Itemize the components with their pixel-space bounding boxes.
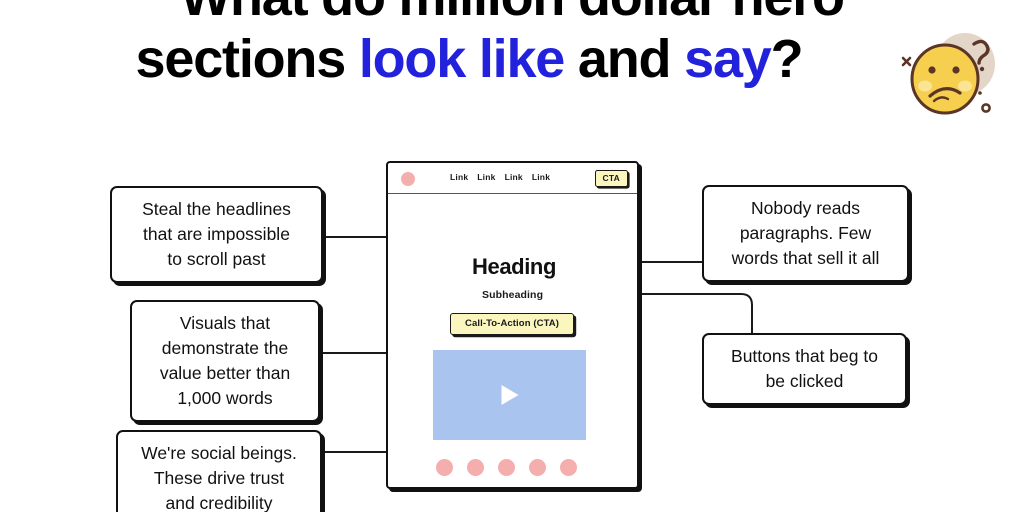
headline-segment-plain-1: sections bbox=[136, 29, 359, 89]
headline-segment-plain-3: ? bbox=[771, 29, 803, 89]
callout-line: value better than bbox=[142, 361, 308, 386]
callout-line: 1,000 words bbox=[142, 386, 308, 411]
hero-video-placeholder[interactable] bbox=[433, 350, 586, 440]
mockup-heading: Heading bbox=[472, 254, 556, 280]
play-icon[interactable] bbox=[501, 385, 518, 405]
headline-segment-plain-2: and bbox=[564, 29, 684, 89]
mockup-hero-body: Heading Subheading Call-To-Action (CTA) bbox=[388, 194, 637, 487]
callout-line: Visuals that bbox=[142, 311, 308, 336]
headline-segment-accent-2: say bbox=[684, 29, 771, 89]
callout-line: Buttons that beg to bbox=[714, 344, 895, 369]
brand-logo-dot-icon bbox=[401, 172, 415, 186]
callout-line: These drive trust bbox=[128, 466, 310, 491]
mockup-nav-links: Link Link Link Link bbox=[450, 172, 550, 182]
callout-line: to scroll past bbox=[122, 247, 311, 272]
headline-line-1: What do million dollar hero bbox=[0, 0, 1024, 28]
mockup-cta-button[interactable]: Call-To-Action (CTA) bbox=[450, 313, 574, 335]
nav-link-1[interactable]: Link bbox=[450, 172, 468, 182]
canvas: What do million dollar hero sections loo… bbox=[0, 0, 1024, 512]
callout-paragraph: Nobody reads paragraphs. Few words that … bbox=[702, 185, 909, 282]
callout-line: be clicked bbox=[714, 369, 895, 394]
callout-buttons: Buttons that beg to be clicked bbox=[702, 333, 907, 405]
nav-link-3[interactable]: Link bbox=[505, 172, 523, 182]
headline-segment-accent-1: look like bbox=[359, 29, 564, 89]
callout-line: and credibility bbox=[128, 491, 310, 512]
social-proof-avatars bbox=[436, 459, 577, 476]
headline-line-2: sections look like and say? bbox=[0, 28, 1024, 90]
callout-line: We're social beings. bbox=[128, 441, 310, 466]
callout-line: paragraphs. Few bbox=[714, 221, 897, 246]
nav-cta-button[interactable]: CTA bbox=[595, 170, 628, 187]
avatar bbox=[560, 459, 577, 476]
avatar bbox=[467, 459, 484, 476]
callout-line: Nobody reads bbox=[714, 196, 897, 221]
avatar bbox=[529, 459, 546, 476]
page-title: What do million dollar hero sections loo… bbox=[0, 0, 1024, 90]
hero-section-mockup: Link Link Link Link CTA Heading Subheadi… bbox=[386, 161, 639, 489]
callout-line: words that sell it all bbox=[714, 246, 897, 271]
callout-social-proof: We're social beings. These drive trust a… bbox=[116, 430, 322, 512]
mockup-navbar: Link Link Link Link CTA bbox=[388, 163, 637, 194]
avatar bbox=[436, 459, 453, 476]
callout-line: Steal the headlines bbox=[122, 197, 311, 222]
nav-link-2[interactable]: Link bbox=[477, 172, 495, 182]
confused-face-emoji bbox=[896, 24, 1008, 128]
callout-line: demonstrate the bbox=[142, 336, 308, 361]
nav-link-4[interactable]: Link bbox=[532, 172, 550, 182]
callout-visuals: Visuals that demonstrate the value bette… bbox=[130, 300, 320, 422]
avatar bbox=[498, 459, 515, 476]
callout-headlines: Steal the headlines that are impossible … bbox=[110, 186, 323, 283]
callout-line: that are impossible bbox=[122, 222, 311, 247]
mockup-subheading: Subheading bbox=[482, 289, 543, 301]
headline-emoji-spacer bbox=[802, 33, 888, 87]
